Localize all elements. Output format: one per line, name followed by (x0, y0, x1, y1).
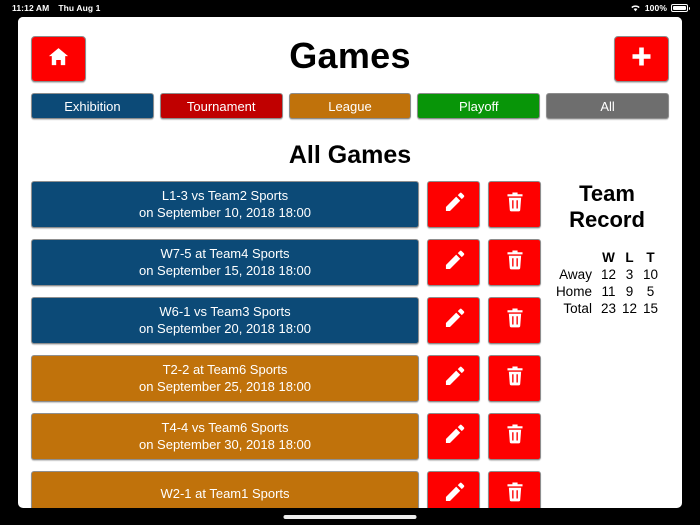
filter-button-exhibition[interactable]: Exhibition (31, 93, 154, 119)
game-row: W7-5 at Team4 Sportson September 15, 201… (31, 239, 526, 286)
add-game-button[interactable] (614, 36, 669, 82)
record-cell-t: 5 (640, 283, 661, 300)
pencil-icon (443, 191, 465, 218)
game-result: W6-1 vs Team3 Sports (159, 304, 290, 321)
record-cell-l: 12 (619, 300, 640, 317)
filter-bar: ExhibitionTournamentLeaguePlayoffAll (18, 93, 682, 119)
game-result: T4-4 vs Team6 Sports (162, 420, 289, 437)
game-result: W2-1 at Team1 Sports (160, 486, 289, 503)
section-title: All Games (18, 141, 682, 170)
edit-game-button[interactable] (427, 181, 480, 228)
record-corner-cell (553, 249, 598, 266)
page-title: Games (18, 35, 682, 77)
status-bar-left: 11:12 AM Thu Aug 1 (12, 3, 100, 13)
team-record-title: Team Record (540, 181, 674, 233)
game-row: W2-1 at Team1 Sports (31, 471, 526, 508)
status-bar: 11:12 AM Thu Aug 1 100% (0, 0, 700, 16)
game-card[interactable]: W2-1 at Team1 Sports (31, 471, 419, 508)
record-row: Total231215 (553, 300, 661, 317)
content-area: L1-3 vs Team2 Sportson September 10, 201… (18, 181, 682, 508)
record-cell-w: 23 (598, 300, 619, 317)
filter-button-league[interactable]: League (289, 93, 412, 119)
status-date: Thu Aug 1 (58, 3, 100, 13)
trash-icon (504, 307, 526, 334)
record-column-header: T (640, 249, 661, 266)
game-card[interactable]: L1-3 vs Team2 Sportson September 10, 201… (31, 181, 419, 228)
game-card[interactable]: W6-1 vs Team3 Sportson September 20, 201… (31, 297, 419, 344)
record-row: Home1195 (553, 283, 661, 300)
pencil-icon (443, 481, 465, 508)
game-schedule: on September 10, 2018 18:00 (139, 205, 311, 222)
games-list: L1-3 vs Team2 Sportson September 10, 201… (31, 181, 526, 508)
pencil-icon (443, 365, 465, 392)
home-indicator[interactable] (284, 515, 417, 519)
game-result: W7-5 at Team4 Sports (160, 246, 289, 263)
record-cell-w: 12 (598, 266, 619, 283)
trash-icon (504, 481, 526, 508)
tablet-device-frame: 11:12 AM Thu Aug 1 100% G (0, 0, 700, 525)
game-card[interactable]: T2-2 at Team6 Sportson September 25, 201… (31, 355, 419, 402)
game-schedule: on September 25, 2018 18:00 (139, 379, 311, 396)
battery-percent-label: 100% (645, 3, 667, 13)
edit-game-button[interactable] (427, 471, 480, 508)
edit-game-button[interactable] (427, 355, 480, 402)
app-screen: Games ExhibitionTournamentLeaguePlayoffA… (18, 17, 682, 508)
record-row-label: Away (553, 266, 598, 283)
edit-game-button[interactable] (427, 297, 480, 344)
trash-icon (504, 365, 526, 392)
game-card[interactable]: T4-4 vs Team6 Sportson September 30, 201… (31, 413, 419, 460)
edit-game-button[interactable] (427, 239, 480, 286)
record-column-header: L (619, 249, 640, 266)
trash-icon (504, 423, 526, 450)
game-schedule: on September 15, 2018 18:00 (139, 263, 311, 280)
filter-button-playoff[interactable]: Playoff (417, 93, 540, 119)
record-row-label: Total (553, 300, 598, 317)
record-cell-t: 15 (640, 300, 661, 317)
game-schedule: on September 30, 2018 18:00 (139, 437, 311, 454)
record-row: Away12310 (553, 266, 661, 283)
team-record-table: WLT Away12310Home1195Total231215 (553, 249, 661, 317)
record-row-label: Home (553, 283, 598, 300)
trash-icon (504, 249, 526, 276)
team-record-header: WLT (553, 249, 661, 266)
team-record-panel: Team Record WLT Away12310Home1195Total23… (526, 181, 682, 508)
status-time: 11:12 AM (12, 3, 49, 13)
pencil-icon (443, 307, 465, 334)
game-row: T2-2 at Team6 Sportson September 25, 201… (31, 355, 526, 402)
record-cell-l: 3 (619, 266, 640, 283)
team-record-body: Away12310Home1195Total231215 (553, 266, 661, 317)
app-header: Games (18, 17, 682, 93)
pencil-icon (443, 423, 465, 450)
team-record-header-row: WLT (553, 249, 661, 266)
game-row: T4-4 vs Team6 Sportson September 30, 201… (31, 413, 526, 460)
game-result: T2-2 at Team6 Sports (163, 362, 288, 379)
trash-icon (504, 191, 526, 218)
pencil-icon (443, 249, 465, 276)
status-bar-right: 100% (630, 3, 688, 13)
filter-button-all[interactable]: All (546, 93, 669, 119)
wifi-icon (630, 4, 641, 12)
plus-icon (630, 45, 653, 73)
game-row: L1-3 vs Team2 Sportson September 10, 201… (31, 181, 526, 228)
game-card[interactable]: W7-5 at Team4 Sportson September 15, 201… (31, 239, 419, 286)
edit-game-button[interactable] (427, 413, 480, 460)
record-cell-t: 10 (640, 266, 661, 283)
battery-icon (671, 4, 688, 12)
game-result: L1-3 vs Team2 Sports (162, 188, 288, 205)
filter-button-tournament[interactable]: Tournament (160, 93, 283, 119)
record-cell-l: 9 (619, 283, 640, 300)
record-column-header: W (598, 249, 619, 266)
game-row: W6-1 vs Team3 Sportson September 20, 201… (31, 297, 526, 344)
record-cell-w: 11 (598, 283, 619, 300)
game-schedule: on September 20, 2018 18:00 (139, 321, 311, 338)
